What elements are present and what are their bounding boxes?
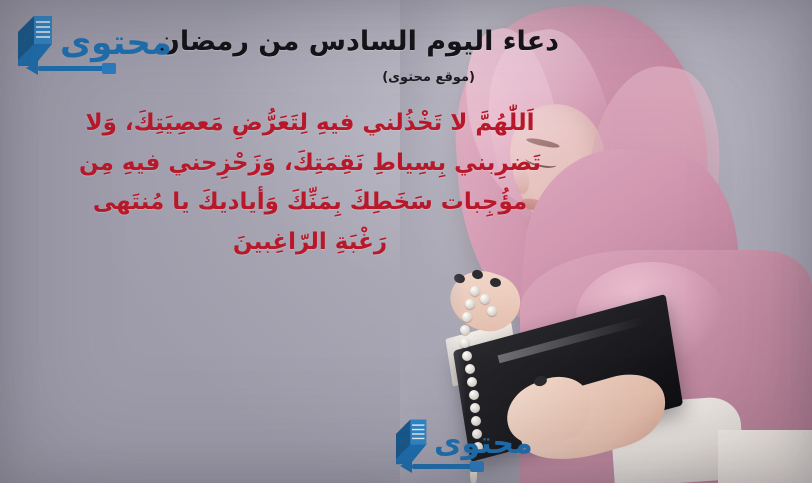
dua-text-block: اَللّٰهُمَّ لا تَخْذُلني فيهِ لِتَعَرُّض…	[30, 104, 590, 262]
pen-cap-icon	[102, 63, 116, 74]
page-title: دعاء اليوم السادس من رمضان	[157, 26, 559, 57]
pen-body-line	[38, 66, 112, 71]
pen-nib-icon	[26, 61, 38, 75]
dua-line-4: رَغْبَةِ الرّاغِبينَ	[30, 223, 590, 263]
poster-canvas: دعاء اليوم السادس من رمضان (موقع محتوى) …	[0, 0, 812, 483]
pen-brush-icon	[392, 418, 432, 470]
pen-cap-icon	[470, 461, 484, 472]
pen-body-line	[412, 464, 478, 469]
pen-nib-icon	[400, 459, 412, 473]
brand-logo-top-word: محتوى	[60, 26, 172, 60]
brand-logo-top[interactable]: محتوى	[14, 14, 172, 72]
brand-logo-bottom[interactable]: محتوى	[392, 418, 533, 470]
dua-line-3: مؤُجِبات سَخَطِكَ بِمَنِّكَ وَأياديكَ يا…	[30, 183, 590, 223]
page-subtitle: (موقع محتوى)	[382, 70, 475, 85]
trousers	[718, 430, 812, 483]
brand-logo-bottom-word: محتوى	[434, 429, 533, 459]
dua-line-2: تَضرِبني بِسِياطِ نَقِمَتِكَ، وَزَحْزِحن…	[30, 144, 590, 184]
dua-line-1: اَللّٰهُمَّ لا تَخْذُلني فيهِ لِتَعَرُّض…	[30, 104, 590, 144]
